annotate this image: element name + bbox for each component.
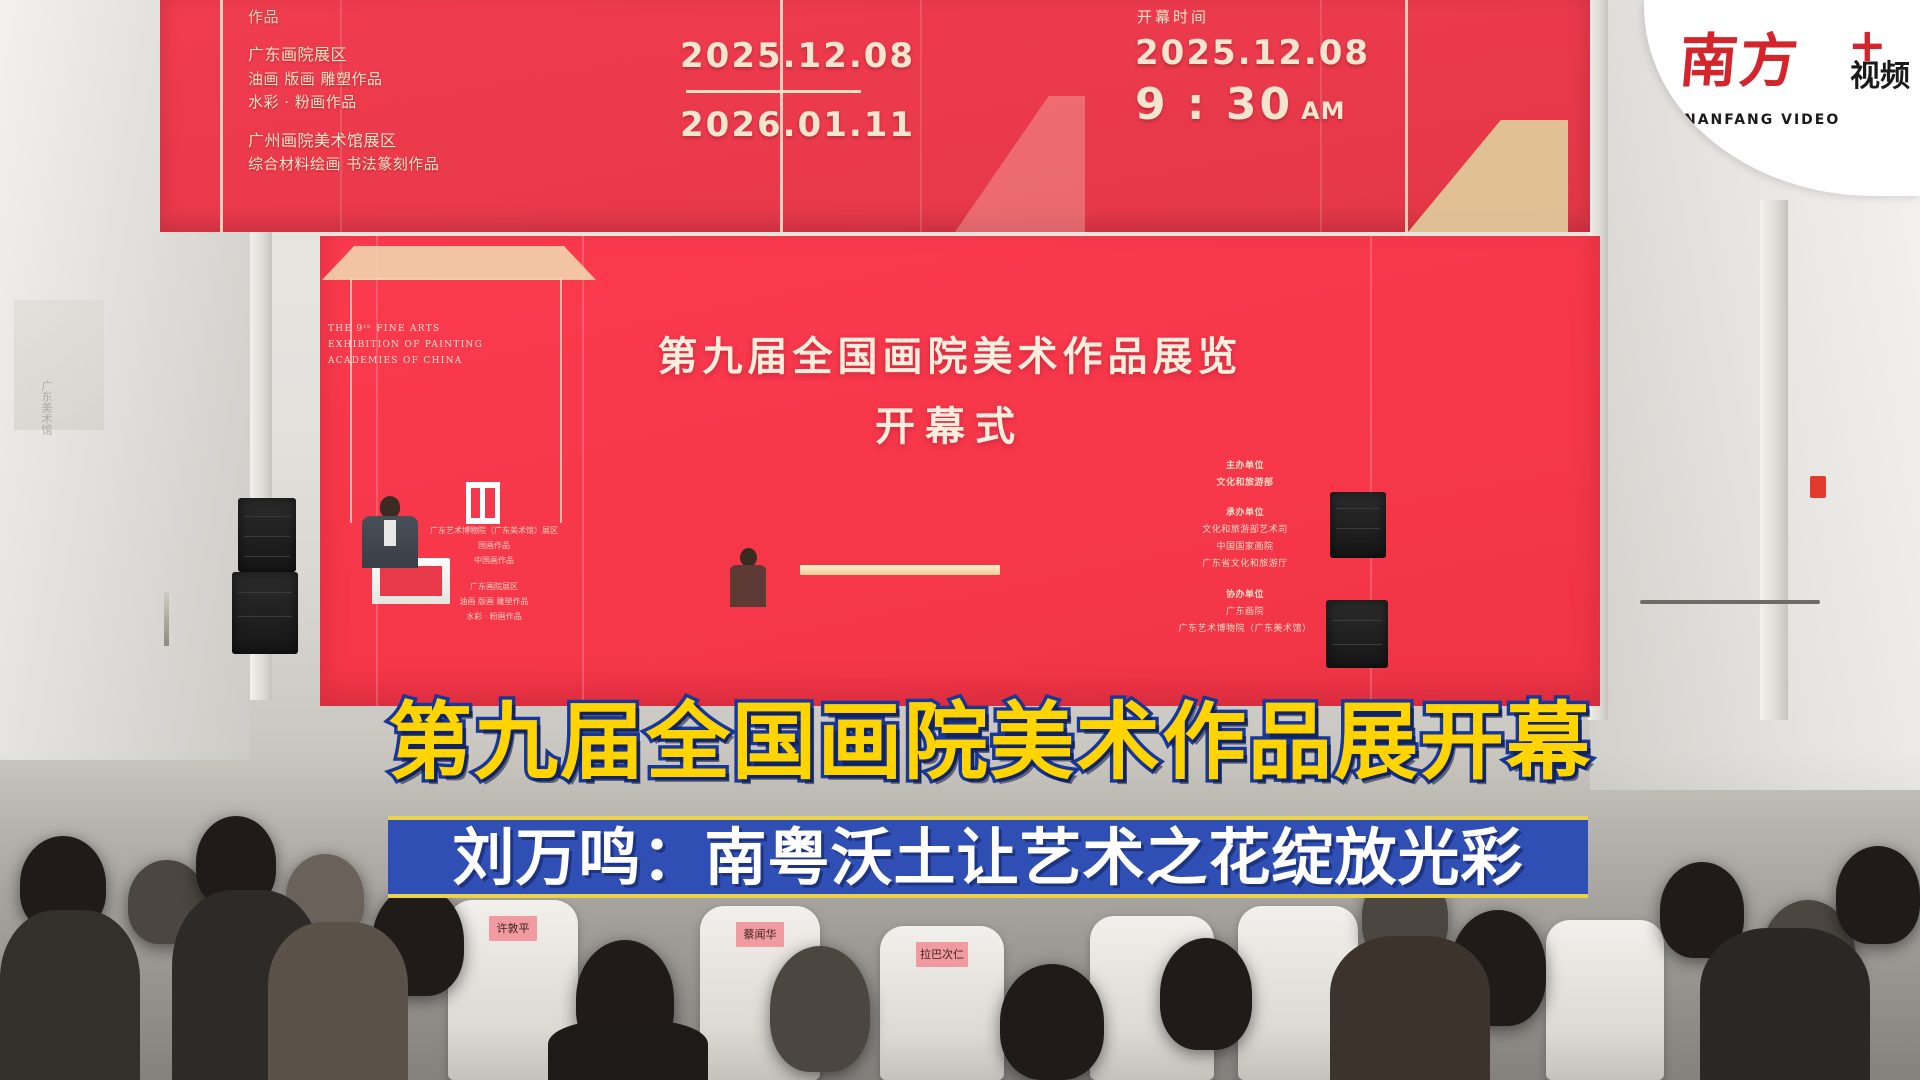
banner-divider-3 [1405,0,1408,232]
pa-speaker-right-top [1330,492,1386,558]
hall-column-far-right [1760,200,1788,720]
banner-left-line0: 作品 [248,6,538,29]
bd-cr-0: 主办单位 [1120,458,1370,475]
logo-brand-en: NANFANG VIDEO [1684,112,1840,128]
logo-sub-cn: 视频 [1850,62,1910,92]
pa-speaker-left-bottom [232,572,298,654]
banner-left-g2-l2: 综合材料绘画 书法篆刻作品 [248,153,538,176]
video-frame: 广东美术馆 作品 广东画院展区 油画 版画 雕塑作品 水彩 · 粉画作品 广州画… [0,0,1920,1080]
bd-sm-1: 国画作品 [404,539,584,554]
banner-opening-label: 开幕时间 [1137,6,1385,27]
bd-cr-6: 广东省文化和旅游厅 [1120,556,1370,573]
seated-person [728,548,768,606]
stanchion-post [164,592,169,646]
chair-name-card: 许敦平 [489,916,537,941]
backdrop-english-title: THE 9ᵗʰ FINE ARTS EXHIBITION OF PAINTING… [328,322,508,369]
banner-opening-time-block: 开幕时间 2025.12.08 9 : 30AM [1135,0,1385,130]
speaker-person [362,496,418,568]
bd-sm-6: 水彩 · 粉画作品 [404,610,584,625]
backdrop-house-outline [350,278,562,523]
banner-left-g1-l2: 油画 版画 雕塑作品 [248,68,538,91]
banner-date-rule [686,90,861,93]
banner-opening-date: 2025.12.08 [1135,33,1385,73]
audience-head [1836,846,1920,944]
top-red-banner: 作品 广东画院展区 油画 版画 雕塑作品 水彩 · 粉画作品 广州画院美术馆展区… [160,0,1590,232]
banner-left-g1-l3: 水彩 · 粉画作品 [248,91,538,114]
banner-opening-time: 9 : 30AM [1135,79,1385,130]
bd-cr-1: 文化和旅游部 [1120,475,1370,492]
hall-left-art-label: 广东美术馆 [8,380,54,500]
banner-date-end: 2026.01.11 [680,105,920,145]
chair-name-card: 拉巴次仁 [916,942,968,967]
audience-chair: 拉巴次仁 [880,926,1004,1080]
banner-left-g2-l1: 广州画院美术馆展区 [248,129,538,154]
banner-opening-time-value: 9 : 30 [1135,79,1293,130]
stage-led-backdrop: THE 9ᵗʰ FINE ARTS EXHIBITION OF PAINTING… [320,236,1600,706]
audience-torso [1700,928,1870,1080]
exit-sign-icon [1810,476,1826,498]
audience-torso [548,1020,708,1080]
logo-brand-cn: 南方 [1676,14,1803,98]
audience-head [770,946,870,1072]
banner-gold-wedge-1 [955,96,1085,232]
banner-exhibition-dates: 2025.12.08 2026.01.11 [680,36,920,145]
audience-head [1000,964,1104,1080]
audience-chair [1546,920,1664,1080]
banner-gold-wedge-2 [1408,120,1568,232]
hall-rail [1640,600,1820,604]
audience-area: 齐 许敦平 蔡闻华 拉巴次仁 [0,750,1920,1080]
chair-name-card: 蔡闻华 [736,922,784,947]
pa-speaker-left-top [238,498,296,572]
banner-left-g1-l1: 广东画院展区 [248,43,538,68]
audience-torso [268,922,408,1080]
audience-torso [0,910,140,1080]
backdrop-title-line1: 第九届全国画院美术作品展览 [620,324,1280,382]
banner-divider-1 [220,0,223,232]
backdrop-emblem-icon [466,482,500,524]
banner-opening-meridiem: AM [1301,97,1345,125]
banner-left-text: 作品 广东画院展区 油画 版画 雕塑作品 水彩 · 粉画作品 广州画院美术馆展区… [248,6,538,191]
pa-speaker-right-bottom [1326,600,1388,668]
stage-side-table [800,565,1000,575]
audience-torso [1330,936,1490,1080]
banner-date-start: 2025.12.08 [680,36,920,76]
bd-sm-0: 广东艺术博物院（广东美术馆）展区 [404,524,584,539]
audience-head [1160,938,1252,1050]
backdrop-title-line2: 开幕式 [620,394,1280,452]
